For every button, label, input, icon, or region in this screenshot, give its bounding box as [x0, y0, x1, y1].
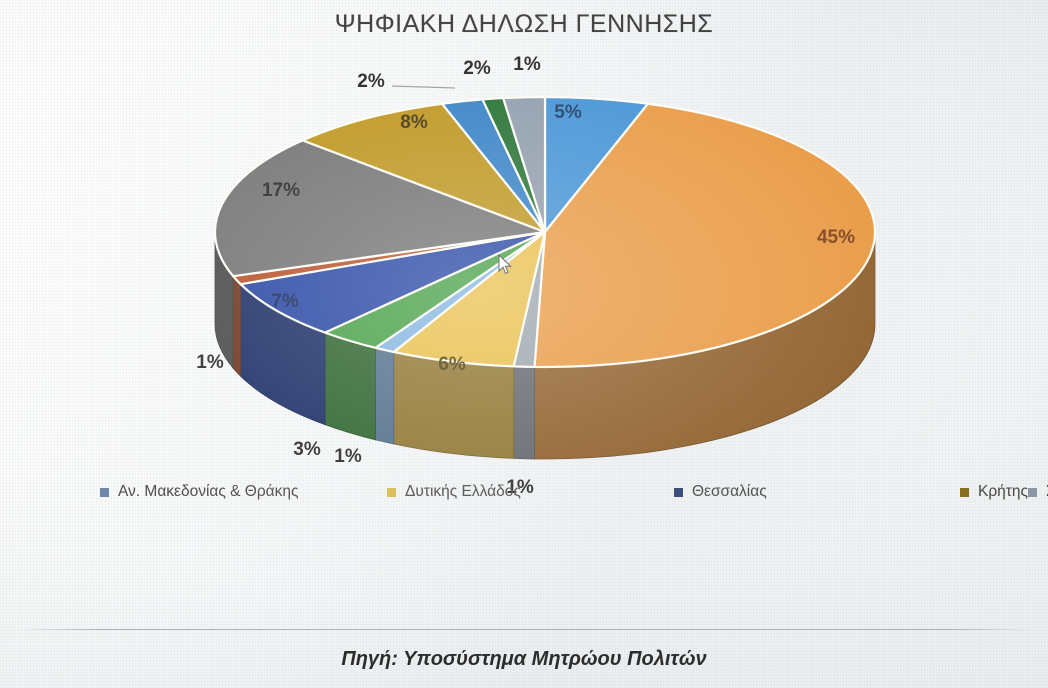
pie-slice-value-label: 3%: [293, 439, 321, 460]
pie-slice-value-label: 8%: [400, 112, 428, 133]
pie-slice-value-label: 2%: [357, 71, 385, 92]
pie-chart[interactable]: 5%45%1%6%1%3%7%1%17%8%2%1%2%: [0, 0, 1048, 500]
pie-slice-value-label: 7%: [271, 291, 299, 312]
pie-slice-side: [325, 333, 376, 440]
pie-slice-value-label: 5%: [554, 102, 582, 123]
legend-swatch-icon: [100, 488, 109, 497]
legend-item[interactable]: Αν. Μακεδονίας & Θράκης: [100, 478, 387, 506]
legend-item-label: Αν. Μακεδονίας & Θράκης: [118, 484, 298, 500]
legend-item-label: Κρήτης: [978, 484, 1028, 500]
pie-slice-value-label: 45%: [817, 227, 855, 248]
pie-slice-side: [514, 366, 535, 459]
legend-item-label: Δυτικής Ελλάδος: [405, 484, 521, 500]
pie-slice-value-label: 1%: [196, 352, 224, 373]
legend-item[interactable]: Θεσσαλίας: [674, 478, 960, 506]
pie-slice-value-label: 1%: [513, 54, 541, 75]
pie-slice-value-label: 1%: [334, 446, 362, 467]
legend-item-label: Θεσσαλίας: [692, 484, 767, 500]
legend-item[interactable]: Δυτικής Ελλάδος: [387, 478, 674, 506]
footer-divider: [14, 629, 1034, 630]
pie-chart-svg[interactable]: 5%45%1%6%1%3%7%1%17%8%2%1%2%: [0, 0, 1048, 500]
legend-swatch-icon: [1028, 488, 1037, 497]
legend-swatch-icon: [960, 488, 969, 497]
pie-slice-side: [375, 348, 393, 444]
pie-slice-value-label: 2%: [463, 58, 491, 79]
chart-legend: Αν. Μακεδονίας & ΘράκηςΔυτικής ΕλλάδοςΘε…: [100, 478, 960, 506]
legend-swatch-icon: [387, 488, 396, 497]
pie-slice-value-label: 17%: [262, 180, 300, 201]
pie-top-faces[interactable]: [215, 97, 875, 367]
source-note: Πηγή: Υποσύστημα Μητρώου Πολιτών: [0, 648, 1048, 671]
pie-slice-value-label: 6%: [438, 354, 466, 375]
pie-slice-side: [233, 276, 240, 376]
legend-item[interactable]: Στερεάς Ελλάδος: [1028, 478, 1048, 506]
legend-item[interactable]: Κρήτης: [960, 478, 1028, 506]
legend-swatch-icon: [674, 488, 683, 497]
label-leader-line: [392, 86, 455, 88]
